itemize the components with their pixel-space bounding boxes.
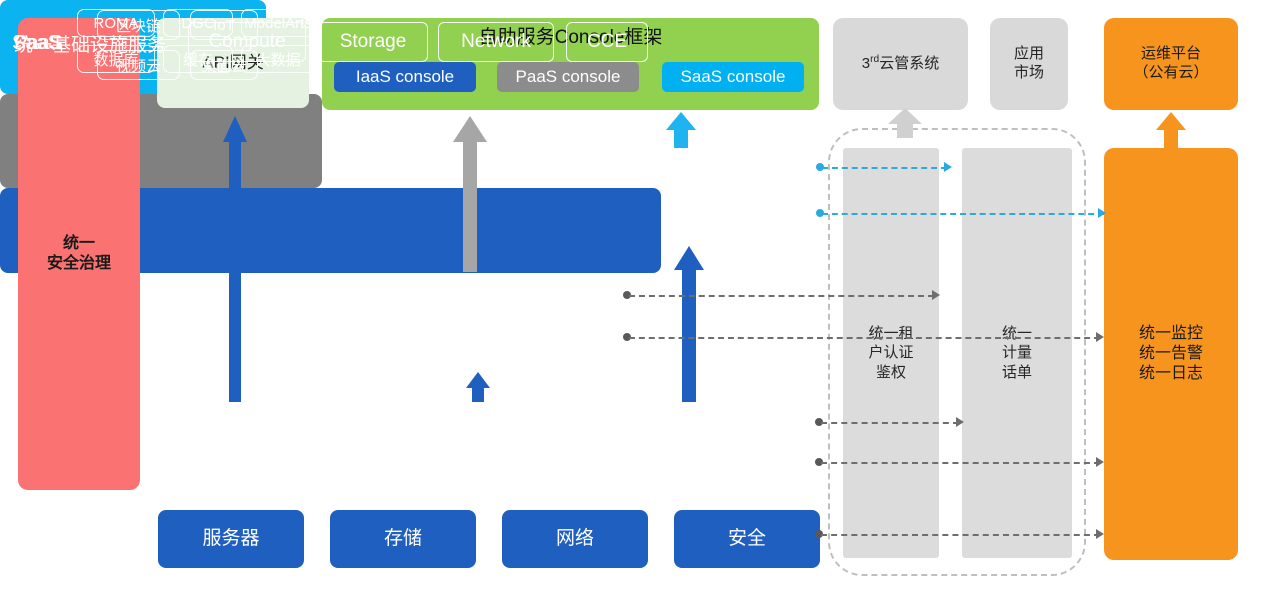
third-party-suffix: 云管系统	[879, 55, 939, 72]
connector-paas-to-auth	[629, 295, 934, 297]
auth-line3: 鉴权	[868, 363, 913, 383]
architecture-diagram: 统一 安全治理 API网关 自助服务Console框架 IaaS console…	[0, 0, 1265, 605]
ops-platform-public-cloud-box: 运维平台 （公有云）	[1104, 18, 1238, 110]
hardware-box-server: 服务器	[158, 510, 304, 568]
ops-platform-capabilities-panel: 统一监控 统一告警 统一日志	[1104, 148, 1238, 560]
connector-arrowhead-saas-auth	[944, 162, 952, 172]
ops-main-line2: 统一告警	[1139, 344, 1203, 364]
security-label-line1: 统一	[47, 234, 111, 254]
arrow-paas-to-console	[453, 116, 487, 272]
arrow-infra-to-saas	[674, 246, 704, 402]
connector-infra-to-billing	[821, 422, 959, 424]
connector-paas-to-ops	[629, 337, 1100, 339]
connector-arrowhead-infra-billing	[956, 417, 964, 427]
connector-arrowhead-hardware-ops	[1096, 529, 1104, 539]
auth-line2: 户认证	[868, 343, 913, 363]
ops-main-line1: 统一监控	[1139, 324, 1203, 344]
connector-infra-to-ops	[821, 462, 1100, 464]
app-market-line1: 应用	[1014, 45, 1044, 64]
connector-saas-to-ops	[822, 213, 1104, 215]
hardware-box-storage: 存储	[330, 510, 476, 568]
unified-metering-billing-column: 统一 计量 话单	[962, 148, 1072, 558]
ops-top-line1: 运维平台	[1133, 45, 1208, 64]
ops-top-line2: （公有云）	[1133, 64, 1208, 83]
infra-service-network[interactable]: Network	[438, 22, 554, 62]
auth-line1: 统一租	[868, 324, 913, 344]
connector-hardware-to-ops	[821, 534, 1100, 536]
saas-console-chip[interactable]: SaaS console	[662, 62, 804, 92]
third-party-label: 3rd云管系统	[862, 54, 939, 74]
unified-security-governance-panel: 统一 安全治理	[18, 18, 140, 490]
arrow-infra-to-api-gateway	[221, 116, 249, 402]
paas-console-chip[interactable]: PaaS console	[497, 62, 639, 92]
arrow-shared-services-to-third-party	[888, 108, 922, 138]
third-party-prefix: 3	[862, 55, 870, 72]
ops-main-line3: 统一日志	[1139, 364, 1203, 384]
hardware-box-security: 安全	[674, 510, 820, 568]
infrastructure-label: 统一基础设施服务	[14, 30, 166, 57]
third-party-cloud-mgmt-box: 3rd云管系统	[833, 18, 968, 110]
app-market-line2: 市场	[1014, 64, 1044, 83]
unified-tenant-auth-column: 统一租 户认证 鉴权	[843, 148, 939, 558]
arrow-saas-to-console	[666, 112, 696, 148]
hardware-box-network: 网络	[502, 510, 648, 568]
arrow-infra-to-paas	[464, 372, 492, 402]
connector-arrowhead-infra-ops	[1096, 457, 1104, 467]
billing-line1: 统一	[1002, 324, 1032, 344]
infra-service-compute[interactable]: Compute	[188, 22, 306, 62]
billing-line2: 计量	[1002, 343, 1032, 363]
connector-arrowhead-paas-ops	[1096, 332, 1104, 342]
connector-arrowhead-paas-auth	[932, 290, 940, 300]
infra-service-storage[interactable]: Storage	[318, 22, 428, 62]
app-market-box: 应用 市场	[990, 18, 1068, 110]
third-party-sup: rd	[870, 54, 879, 65]
connector-saas-to-auth	[822, 167, 947, 169]
arrow-ops-main-to-ops-top	[1156, 112, 1186, 150]
connector-arrowhead-saas-ops	[1098, 208, 1106, 218]
infra-service-cce[interactable]: CCE	[566, 22, 648, 62]
security-label-line2: 安全治理	[47, 254, 111, 274]
billing-line3: 话单	[1002, 363, 1032, 383]
iaas-console-chip[interactable]: IaaS console	[334, 62, 476, 92]
